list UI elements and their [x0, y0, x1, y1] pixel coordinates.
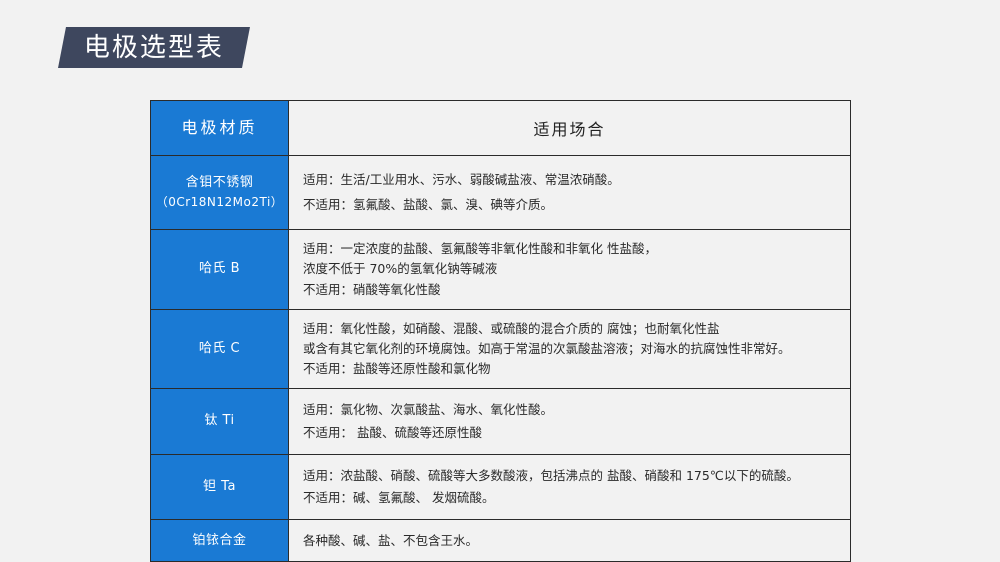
- table-header-row: 电极材质 适用场合: [151, 101, 851, 156]
- header-cell-usage: 适用场合: [289, 101, 851, 156]
- cell-material: 钛 Ti: [151, 389, 289, 455]
- usage-line: 不适用：氢氟酸、盐酸、氯、溴、碘等介质。: [303, 196, 850, 214]
- material-name: 含钼不锈钢: [153, 173, 286, 193]
- cell-material: 哈氏 B: [151, 230, 289, 309]
- table-row: 含钼不锈钢 （0Cr18N12Mo2Ti） 适用：生活/工业用水、污水、弱酸碱盐…: [151, 156, 851, 230]
- cell-usage: 各种酸、碱、盐、不包含王水。: [289, 520, 851, 562]
- material-name: 哈氏 B: [153, 259, 286, 279]
- cell-material: 铂铱合金: [151, 520, 289, 562]
- usage-line: 不适用：盐酸等还原性酸和氯化物: [303, 360, 850, 378]
- cell-usage: 适用：生活/工业用水、污水、弱酸碱盐液、常温浓硝酸。 不适用：氢氟酸、盐酸、氯、…: [289, 156, 851, 230]
- usage-line: 浓度不低于 70%的氢氧化钠等碱液: [303, 260, 850, 278]
- usage-line: 适用：浓盐酸、硝酸、硫酸等大多数酸液，包括沸点的 盐酸、硝酸和 175℃以下的硫…: [303, 467, 850, 485]
- material-name: 哈氏 C: [153, 339, 286, 359]
- cell-material: 钽 Ta: [151, 455, 289, 520]
- cell-usage: 适用：一定浓度的盐酸、氢氟酸等非氧化性酸和非氧化 性盐酸， 浓度不低于 70%的…: [289, 230, 851, 309]
- material-name: 钽 Ta: [153, 477, 286, 497]
- table-row: 钽 Ta 适用：浓盐酸、硝酸、硫酸等大多数酸液，包括沸点的 盐酸、硝酸和 175…: [151, 455, 851, 520]
- usage-line: 不适用： 盐酸、硫酸等还原性酸: [303, 424, 850, 442]
- usage-line: 各种酸、碱、盐、不包含王水。: [303, 532, 850, 550]
- usage-line: 适用：氧化性酸，如硝酸、混酸、或硫酸的混合介质的 腐蚀；也耐氧化性盐: [303, 320, 850, 338]
- usage-line: 适用：氯化物、次氯酸盐、海水、氧化性酸。: [303, 401, 850, 419]
- cell-usage: 适用：氯化物、次氯酸盐、海水、氧化性酸。 不适用： 盐酸、硫酸等还原性酸: [289, 389, 851, 455]
- page-title: 电极选型表: [84, 35, 224, 61]
- cell-material: 含钼不锈钢 （0Cr18N12Mo2Ti）: [151, 156, 289, 230]
- electrode-selection-table: 电极材质 适用场合 含钼不锈钢 （0Cr18N12Mo2Ti） 适用：生活/工业…: [150, 100, 851, 562]
- page-title-banner: 电极选型表: [58, 27, 250, 68]
- table-row: 钛 Ti 适用：氯化物、次氯酸盐、海水、氧化性酸。 不适用： 盐酸、硫酸等还原性…: [151, 389, 851, 455]
- table-row: 哈氏 C 适用：氧化性酸，如硝酸、混酸、或硫酸的混合介质的 腐蚀；也耐氧化性盐 …: [151, 309, 851, 388]
- usage-line: 不适用：碱、氢氟酸、 发烟硫酸。: [303, 489, 850, 507]
- usage-line: 适用：生活/工业用水、污水、弱酸碱盐液、常温浓硝酸。: [303, 171, 850, 189]
- cell-usage: 适用：氧化性酸，如硝酸、混酸、或硫酸的混合介质的 腐蚀；也耐氧化性盐 或含有其它…: [289, 309, 851, 388]
- table-row: 哈氏 B 适用：一定浓度的盐酸、氢氟酸等非氧化性酸和非氧化 性盐酸， 浓度不低于…: [151, 230, 851, 309]
- cell-material: 哈氏 C: [151, 309, 289, 388]
- table-row: 铂铱合金 各种酸、碱、盐、不包含王水。: [151, 520, 851, 562]
- usage-line: 适用：一定浓度的盐酸、氢氟酸等非氧化性酸和非氧化 性盐酸，: [303, 240, 850, 258]
- header-cell-material: 电极材质: [151, 101, 289, 156]
- cell-usage: 适用：浓盐酸、硝酸、硫酸等大多数酸液，包括沸点的 盐酸、硝酸和 175℃以下的硫…: [289, 455, 851, 520]
- usage-line: 不适用：硝酸等氧化性酸: [303, 281, 850, 299]
- material-name: 铂铱合金: [153, 531, 286, 551]
- usage-line: 或含有其它氧化剂的环境腐蚀。如高于常温的次氯酸盐溶液；对海水的抗腐蚀性非常好。: [303, 340, 850, 358]
- material-name: 钛 Ti: [153, 411, 286, 431]
- material-grade: （0Cr18N12Mo2Ti）: [153, 193, 286, 212]
